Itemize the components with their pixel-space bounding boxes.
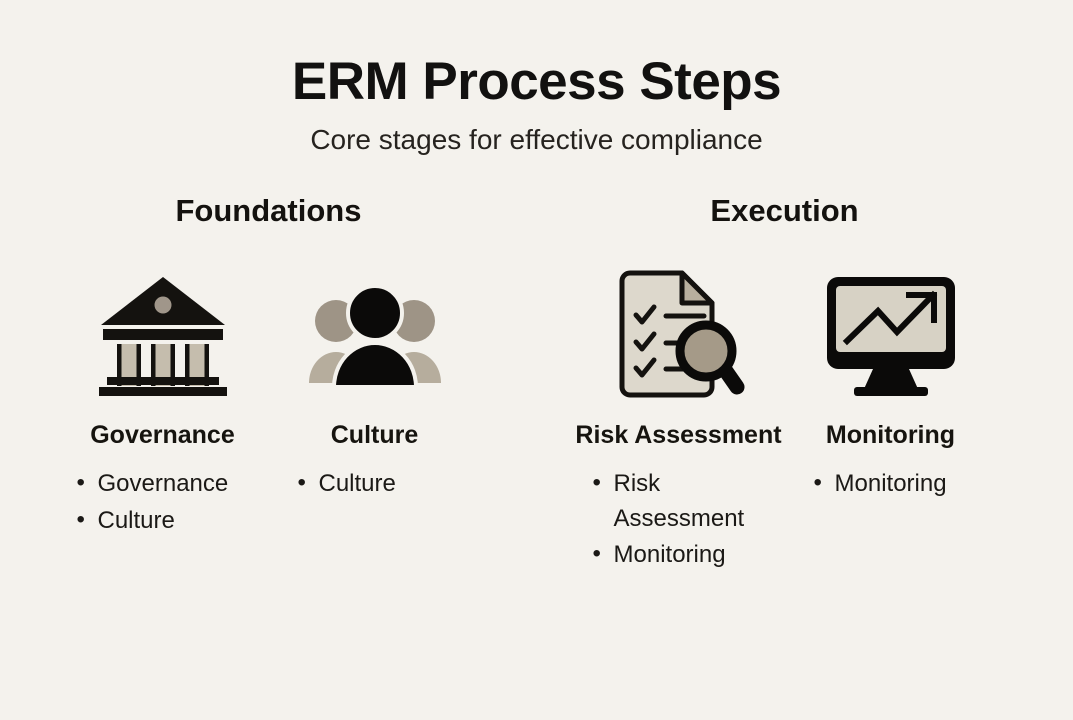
card-monitoring[interactable]: Monitoring Monitoring	[785, 270, 997, 504]
checklist-magnifier-icon	[612, 270, 746, 400]
bullet-list-risk-assessment: Risk Assessment Monitoring	[591, 467, 767, 574]
cards-execution: Risk Assessment Risk Assessment Monitori…	[550, 270, 1020, 574]
list-item: Monitoring	[591, 538, 767, 572]
bullet-list-monitoring: Monitoring	[812, 467, 970, 503]
bullet-list-governance: Governance Culture	[75, 467, 251, 540]
groups-row: Foundations	[0, 195, 1073, 574]
card-label-monitoring: Monitoring	[826, 422, 955, 450]
group-title-execution: Execution	[710, 195, 858, 226]
card-governance[interactable]: Governance Governance Culture	[57, 270, 269, 540]
card-label-culture: Culture	[331, 422, 419, 450]
bank-columns-icon	[99, 270, 227, 400]
cards-foundations: Governance Governance Culture	[54, 270, 484, 540]
card-culture[interactable]: Culture Culture	[269, 270, 481, 504]
card-risk-assessment[interactable]: Risk Assessment Risk Assessment Monitori…	[573, 270, 785, 574]
list-item: Culture	[296, 467, 454, 501]
list-item: Culture	[75, 504, 251, 538]
bullet-list-culture: Culture	[296, 467, 454, 503]
group-foundations: Foundations	[54, 195, 484, 540]
infographic-poster: ERM Process Steps Core stages for effect…	[0, 0, 1073, 720]
group-title-foundations: Foundations	[176, 195, 362, 226]
monitor-trend-icon	[823, 270, 959, 400]
card-label-risk-assessment: Risk Assessment	[575, 422, 781, 450]
list-item: Governance	[75, 467, 251, 501]
header: ERM Process Steps Core stages for effect…	[0, 0, 1073, 157]
list-item: Monitoring	[812, 467, 970, 501]
page-subtitle: Core stages for effective compliance	[0, 123, 1073, 157]
group-execution: Execution	[550, 195, 1020, 574]
card-label-governance: Governance	[90, 422, 235, 450]
page-title: ERM Process Steps	[0, 52, 1073, 111]
list-item: Risk Assessment	[591, 467, 767, 536]
people-group-icon	[306, 270, 444, 400]
